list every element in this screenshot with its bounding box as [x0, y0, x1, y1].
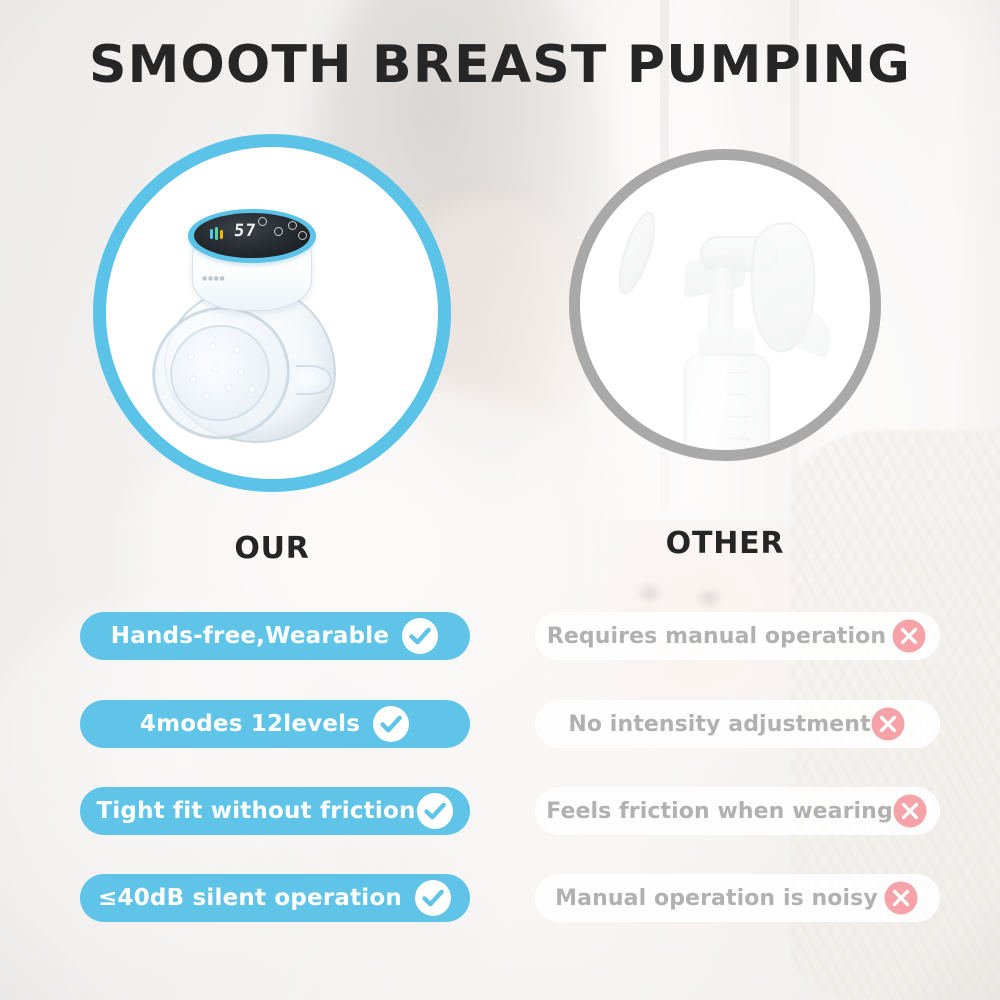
pump-brand-mark: ●●●● — [202, 275, 225, 282]
manual-pump-measurement-marks — [728, 372, 750, 461]
our-feature-label: Tight fit without friction — [96, 798, 415, 824]
our-feature-label: ≤40dB silent operation — [98, 885, 402, 911]
page-title: SMOOTH BREAST PUMPING — [0, 34, 1000, 96]
manual-pump-bottle — [684, 354, 770, 461]
our-feature-pill[interactable]: Tight fit without friction — [80, 787, 470, 835]
other-drawback-pill[interactable]: Requires manual operation — [535, 612, 940, 660]
other-drawback-pill[interactable]: Feels friction when wearing — [535, 787, 940, 835]
check-circle-icon — [414, 879, 452, 917]
other-drawback-pill[interactable]: Manual operation is noisy — [535, 874, 940, 922]
check-circle-icon — [372, 705, 410, 743]
x-circle-icon — [869, 705, 907, 743]
other-drawback-label: Feels friction when wearing — [546, 799, 893, 824]
other-drawback-label: No intensity adjustment — [568, 712, 870, 737]
our-column-label: OUR — [152, 531, 392, 567]
check-circle-icon — [416, 792, 454, 830]
background-baby-eye-right — [696, 588, 722, 608]
pump-display-value: 57 — [233, 221, 258, 241]
our-feature-label: 4modes 12levels — [140, 711, 360, 737]
our-feature-pill[interactable]: ≤40dB silent operation — [80, 874, 470, 922]
x-circle-icon — [890, 617, 928, 655]
wearable-electric-breast-pump-illustration: ●●●● 57 — [106, 147, 438, 479]
x-circle-icon — [891, 792, 929, 830]
other-drawback-pill[interactable]: No intensity adjustment — [535, 700, 940, 748]
manual-pump-funnel — [611, 208, 662, 298]
manual-breast-pump-illustration — [580, 160, 870, 450]
our-feature-pill[interactable]: 4modes 12levels — [80, 700, 470, 748]
other-column-label: OTHER — [605, 526, 845, 562]
other-drawback-label: Requires manual operation — [547, 624, 886, 649]
our-feature-pill[interactable]: Hands-free,Wearable — [80, 612, 470, 660]
other-product-circle — [569, 149, 881, 461]
pump-power-button[interactable] — [258, 217, 267, 226]
background-baby-eye-left — [637, 583, 663, 603]
other-drawback-label: Manual operation is noisy — [555, 886, 878, 911]
product-comparison-poster: SMOOTH BREAST PUMPING ●●●● — [0, 0, 1000, 1000]
pump-mode-button[interactable] — [274, 227, 283, 236]
our-product-circle: ●●●● 57 — [93, 134, 451, 492]
pump-timer-button[interactable] — [298, 231, 307, 240]
our-feature-label: Hands-free,Wearable — [111, 623, 389, 649]
check-circle-icon — [401, 617, 439, 655]
x-circle-icon — [882, 879, 920, 917]
pump-minus-button[interactable] — [288, 221, 297, 230]
